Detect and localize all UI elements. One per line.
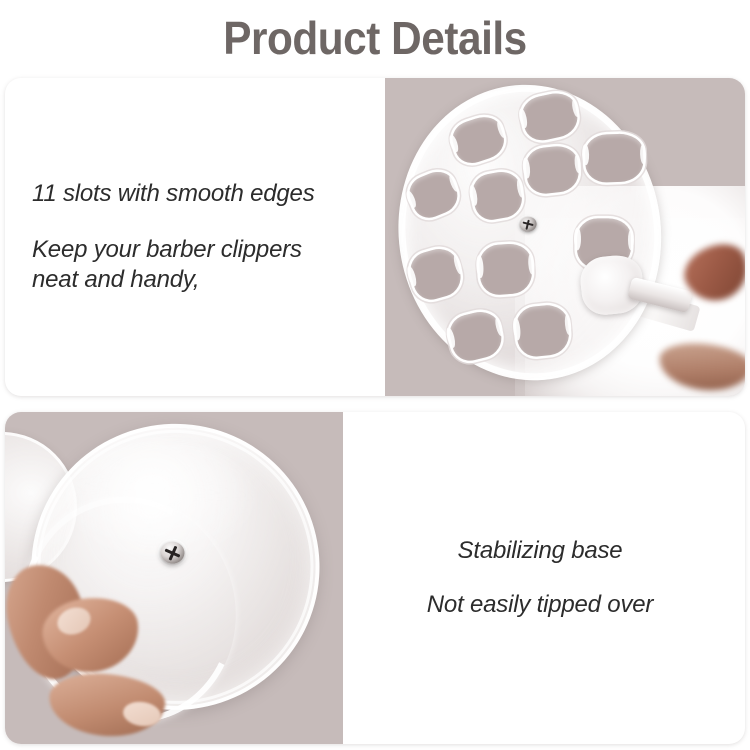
feature-line: 11 slots with smooth edges — [32, 179, 315, 209]
feature-block: Stabilizing base — [458, 536, 623, 566]
disc-slot — [478, 243, 533, 297]
clipper-guard-holder-disc-photo — [385, 78, 745, 396]
feature-block: 11 slots with smooth edges — [32, 179, 315, 209]
feature-block: Keep your barber clippers neat and handy… — [32, 235, 302, 295]
product-details-page: Product Details 11 slots with smooth edg… — [0, 0, 750, 750]
feature-card-bottom: Stabilizing base Not easily tipped over — [5, 412, 745, 744]
feature-block: Not easily tipped over — [427, 590, 653, 620]
feature-text-pane-top: 11 slots with smooth edges Keep your bar… — [5, 78, 385, 396]
stabilizing-base-photo — [5, 412, 343, 744]
disc-slot — [584, 133, 644, 183]
page-title: Product Details — [30, 12, 720, 64]
feature-text-pane-bottom: Stabilizing base Not easily tipped over — [343, 412, 745, 744]
feature-card-top: 11 slots with smooth edges Keep your bar… — [5, 78, 745, 396]
feature-line: Stabilizing base — [458, 536, 623, 566]
acrylic-slot-disc — [385, 78, 689, 396]
feature-line: Keep your barber clippers — [32, 235, 302, 265]
feature-line: Not easily tipped over — [427, 590, 653, 620]
feature-line: neat and handy, — [32, 265, 302, 295]
